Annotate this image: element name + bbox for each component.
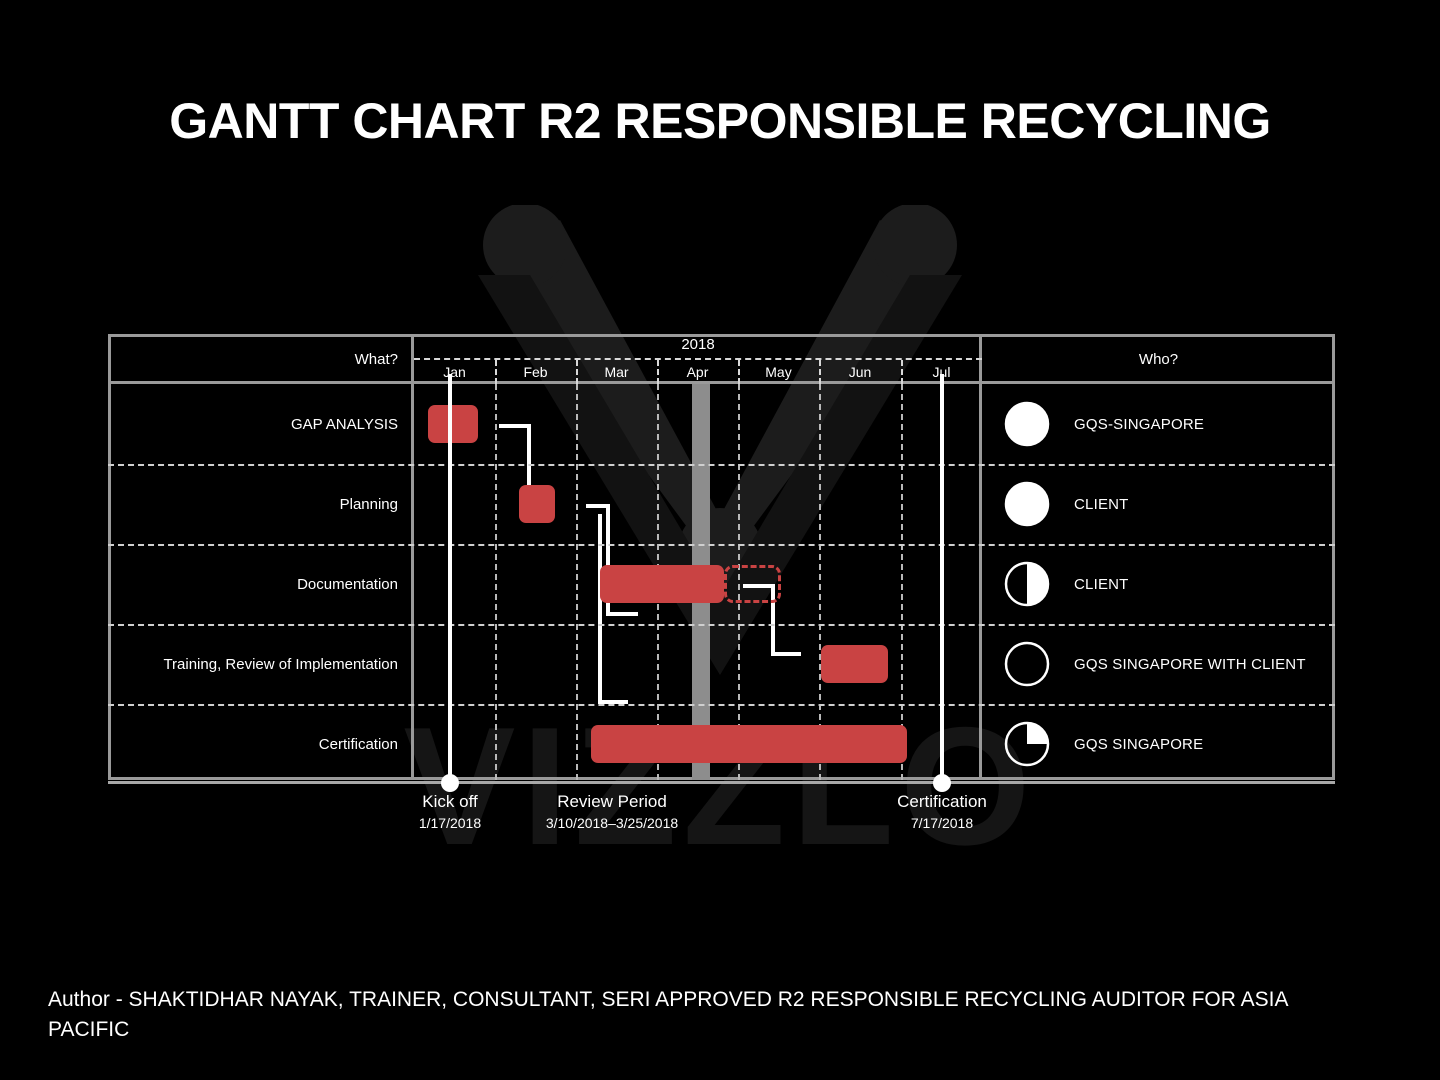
period-title-review: Review Period bbox=[512, 792, 712, 812]
milestone-date-certification: 7/17/2018 bbox=[842, 815, 1042, 831]
milestone-title-certification: Certification bbox=[842, 792, 1042, 812]
milestone-line-kickoff bbox=[448, 374, 452, 784]
milestone-label-certification: Certification 7/17/2018 bbox=[842, 792, 1042, 831]
milestone-line-certification bbox=[940, 374, 944, 784]
milestone-layer: Kick off 1/17/2018 Certification 7/17/20… bbox=[0, 0, 1440, 1080]
period-label-review: Review Period 3/10/2018–3/25/2018 bbox=[512, 792, 712, 831]
period-date-review: 3/10/2018–3/25/2018 bbox=[512, 815, 712, 831]
milestone-dot-certification[interactable] bbox=[933, 774, 951, 792]
milestone-dot-kickoff[interactable] bbox=[441, 774, 459, 792]
